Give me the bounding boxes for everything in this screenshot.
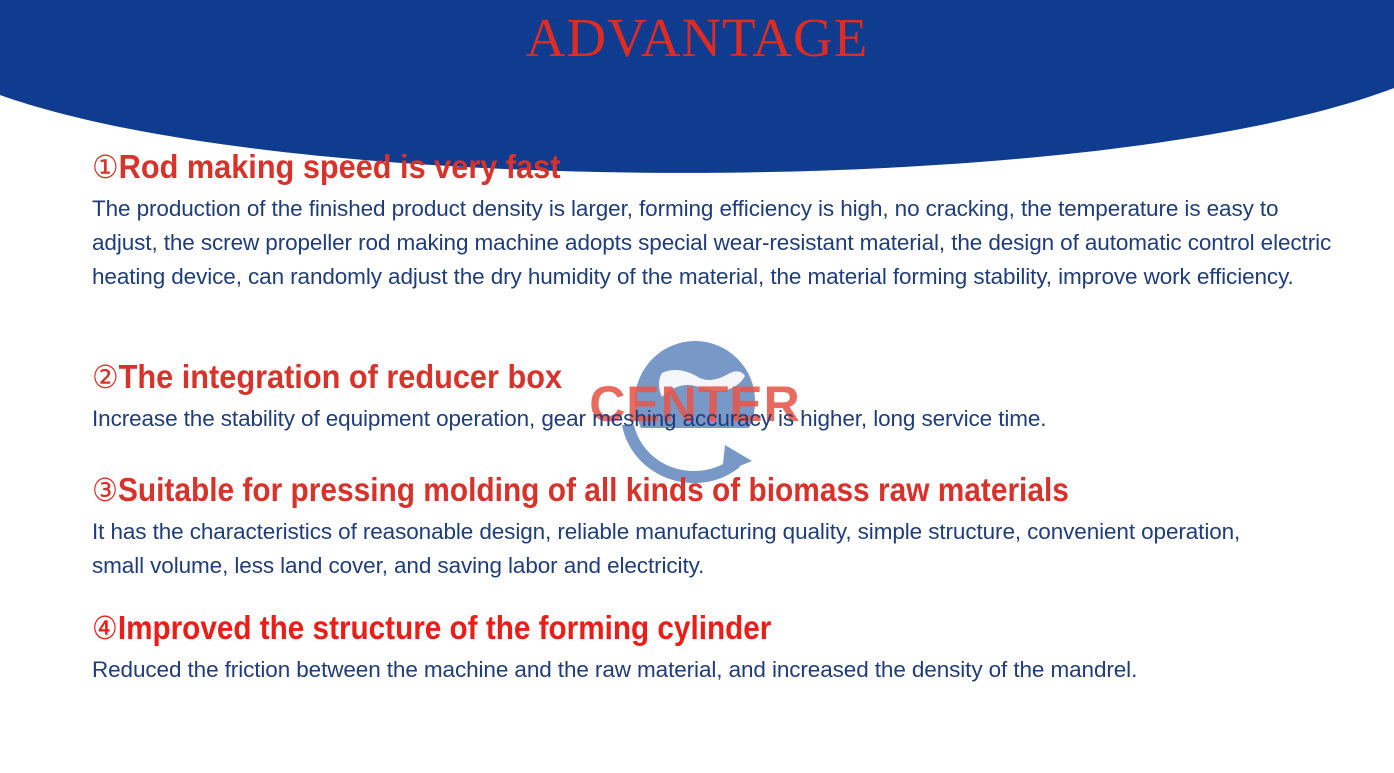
advantage-heading-text-1: Rod making speed is very fast (119, 148, 561, 185)
advantage-number-3: ③ (92, 471, 118, 509)
advantage-heading-2: ②The integration of reducer box (92, 358, 1262, 396)
advantage-heading-text-2: The integration of reducer box (119, 358, 562, 395)
advantage-body-1: The production of the finished product d… (92, 192, 1342, 294)
advantage-item-4: ④Improved the structure of the forming c… (92, 609, 1350, 687)
advantage-slide: ADVANTAGE CENTER ①Rod making speed is ve… (0, 0, 1394, 773)
advantage-item-1: ①Rod making speed is very fast The produ… (92, 148, 1350, 294)
advantage-item-3: ③Suitable for pressing molding of all ki… (92, 471, 1350, 583)
advantage-heading-4: ④Improved the structure of the forming c… (92, 609, 1224, 647)
advantage-item-2: ②The integration of reducer box Increase… (92, 358, 1350, 436)
advantage-body-3: It has the characteristics of reasonable… (92, 515, 1292, 583)
advantage-body-4: Reduced the friction between the machine… (92, 653, 1257, 687)
advantage-heading-text-3: Suitable for pressing molding of all kin… (118, 471, 1069, 508)
advantage-body-2: Increase the stability of equipment oper… (92, 402, 1350, 436)
advantage-number-4: ④ (92, 609, 118, 647)
advantage-heading-text-4: Improved the structure of the forming cy… (118, 609, 771, 646)
advantage-number-2: ② (92, 358, 119, 396)
advantage-list: ①Rod making speed is very fast The produ… (0, 0, 1394, 773)
advantage-number-1: ① (92, 148, 119, 186)
advantage-heading-3: ③Suitable for pressing molding of all ki… (92, 471, 1230, 509)
advantage-heading-1: ①Rod making speed is very fast (92, 148, 1262, 186)
